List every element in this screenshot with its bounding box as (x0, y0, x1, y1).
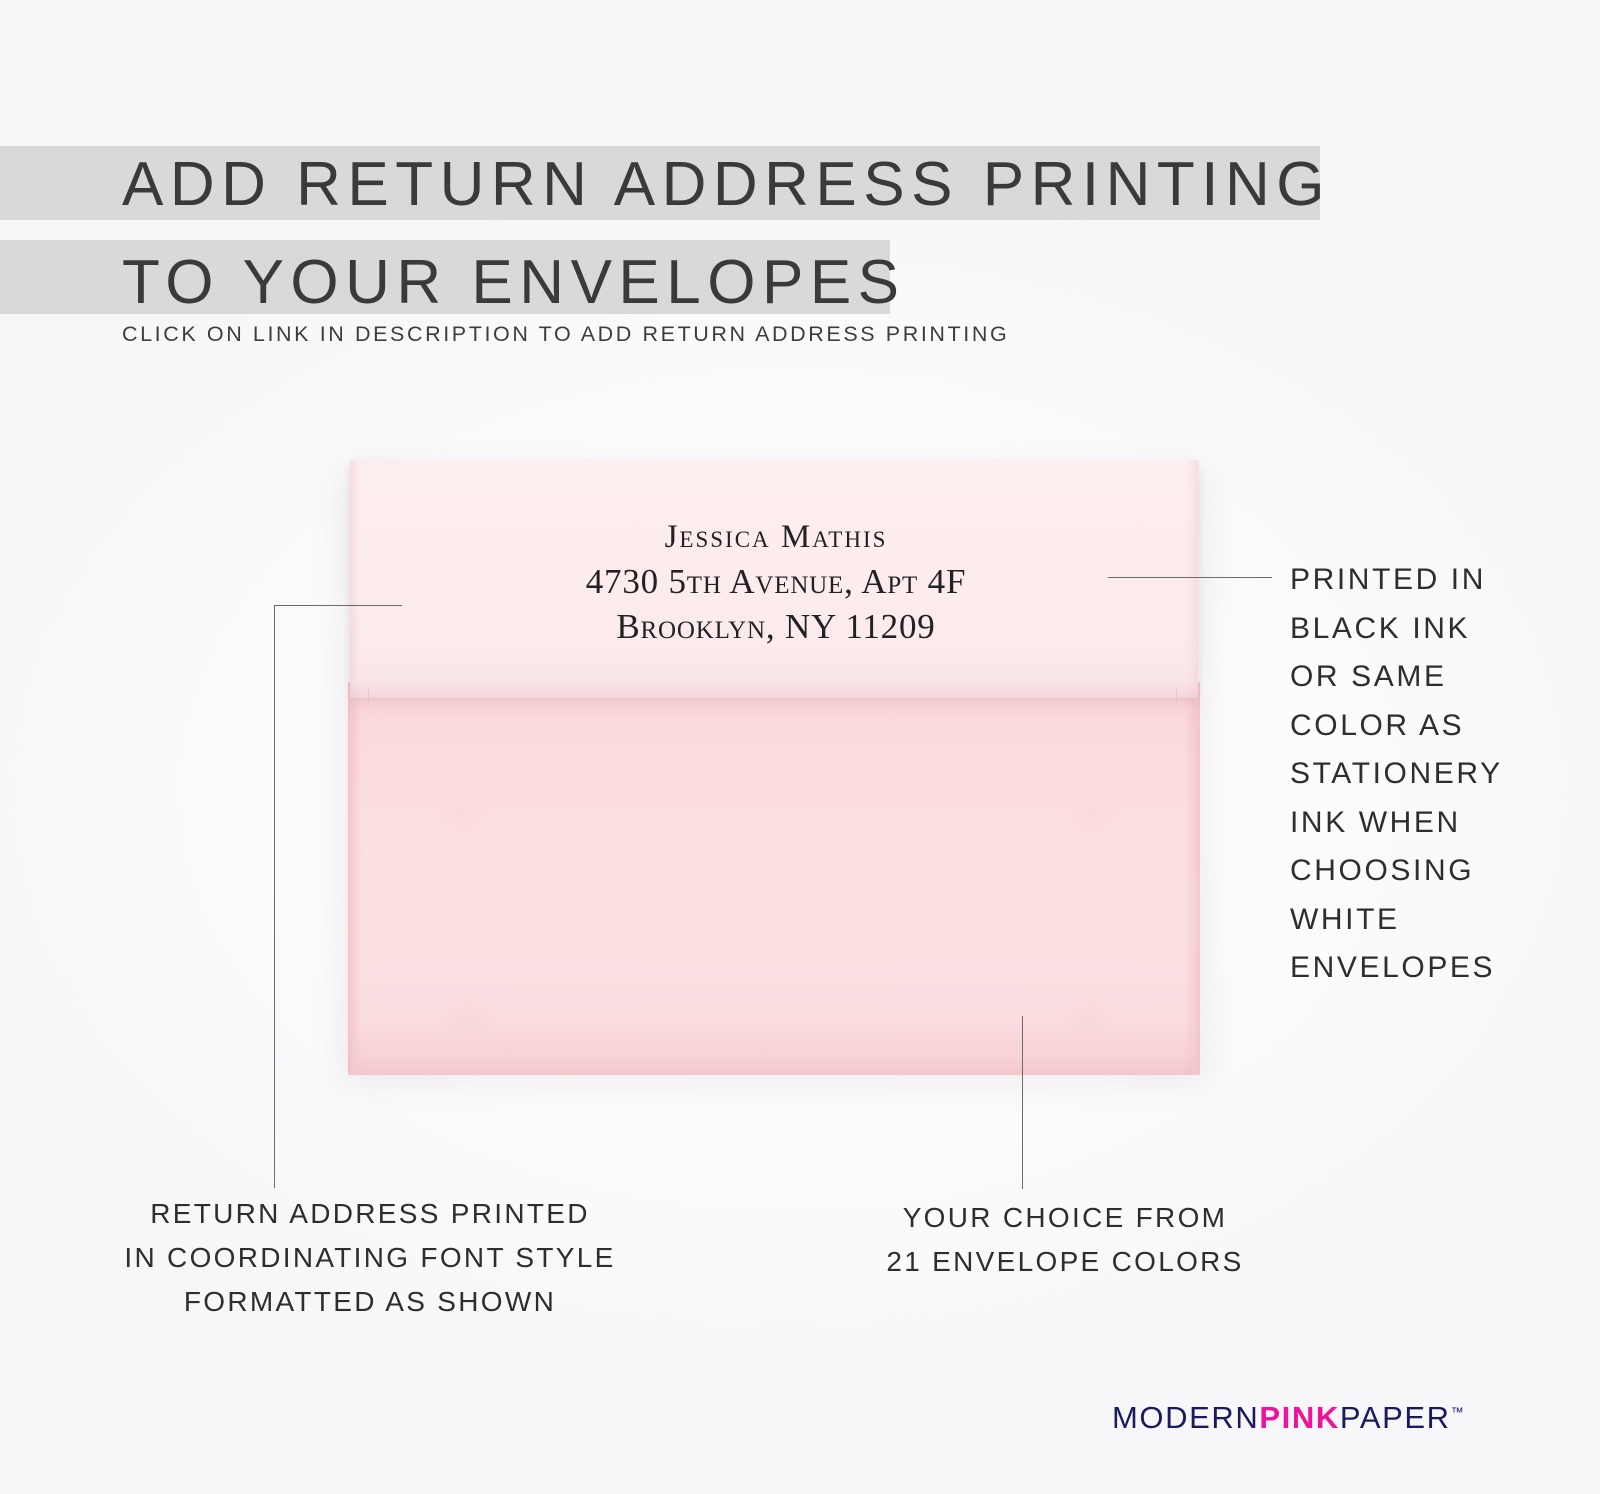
callout-return-address-font: RETURN ADDRESS PRINTED IN COORDINATING F… (70, 1192, 670, 1324)
flap-notch-left (368, 688, 369, 702)
callout-printed-ink: PRINTED IN BLACK INK OR SAME COLOR AS ST… (1290, 556, 1590, 993)
return-address-street: 4730 5th Avenue, Apt 4F (350, 559, 1202, 605)
leader-line-center-vertical (1022, 1016, 1023, 1189)
headline-text-2: TO YOUR ENVELOPES (122, 236, 1400, 330)
callout-right-line-9: ENVELOPES (1290, 944, 1590, 993)
headline-line-2: TO YOUR ENVELOPES (0, 236, 1400, 330)
logo-part-modern: MODERN (1112, 1400, 1259, 1435)
leader-line-right (1108, 577, 1272, 578)
flap-notch-right (1176, 688, 1177, 702)
envelope-bottom-seam (356, 1013, 1192, 1075)
return-address-name: Jessica Mathis (350, 516, 1202, 559)
trademark-symbol: ™ (1451, 1405, 1464, 1420)
callout-right-line-5: STATIONERY (1290, 750, 1590, 799)
leader-line-left-horizontal (274, 605, 402, 606)
callout-right-line-4: COLOR AS (1290, 702, 1590, 751)
headline-block: ADD RETURN ADDRESS PRINTING TO YOUR ENVE… (0, 138, 1400, 334)
poster-canvas: ADD RETURN ADDRESS PRINTING TO YOUR ENVE… (0, 0, 1600, 1494)
envelope-body (348, 682, 1200, 1075)
callout-right-line-1: PRINTED IN (1290, 556, 1590, 605)
callout-bottom-left-line-2: IN COORDINATING FONT STYLE (70, 1236, 670, 1280)
headline-line-1: ADD RETURN ADDRESS PRINTING (0, 138, 1400, 232)
callout-right-line-8: WHITE (1290, 896, 1590, 945)
callout-right-line-6: INK WHEN (1290, 799, 1590, 848)
logo-part-pink: PINK (1259, 1400, 1339, 1435)
envelope-mockup: Jessica Mathis 4730 5th Avenue, Apt 4F B… (348, 460, 1200, 1075)
printed-return-address: Jessica Mathis 4730 5th Avenue, Apt 4F B… (350, 516, 1202, 650)
logo-part-paper: PAPER (1340, 1400, 1451, 1435)
callout-right-line-7: CHOOSING (1290, 847, 1590, 896)
envelope-flap: Jessica Mathis 4730 5th Avenue, Apt 4F B… (350, 460, 1198, 698)
callout-bottom-left-line-1: RETURN ADDRESS PRINTED (70, 1192, 670, 1236)
callout-right-line-3: OR SAME (1290, 653, 1590, 702)
brand-logo[interactable]: MODERNPINKPAPER™ (1112, 1400, 1464, 1436)
callout-right-line-2: BLACK INK (1290, 605, 1590, 654)
callout-bottom-center-line-2: 21 ENVELOPE COLORS (845, 1240, 1285, 1284)
callout-envelope-colors: YOUR CHOICE FROM 21 ENVELOPE COLORS (845, 1196, 1285, 1284)
headline-text-1: ADD RETURN ADDRESS PRINTING (122, 138, 1400, 232)
leader-line-left-vertical (274, 605, 275, 1188)
subheading: CLICK ON LINK IN DESCRIPTION TO ADD RETU… (122, 322, 1009, 347)
callout-bottom-left-line-3: FORMATTED AS SHOWN (70, 1280, 670, 1324)
return-address-city-state-zip: Brooklyn, NY 11209 (350, 604, 1202, 650)
callout-bottom-center-line-1: YOUR CHOICE FROM (845, 1196, 1285, 1240)
